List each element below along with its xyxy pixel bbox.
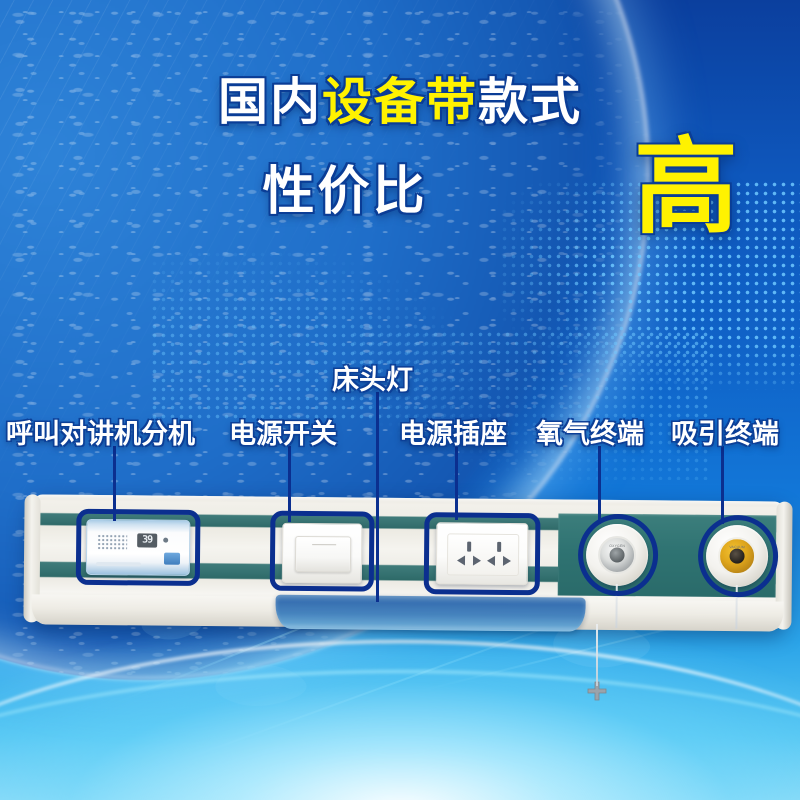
- terminal-port-icon: [610, 547, 625, 562]
- power-socket[interactable]: [436, 522, 529, 585]
- outlet-pin-vertical: [467, 542, 471, 552]
- intercom-display: 39: [137, 533, 157, 547]
- headline-subtitle: 性价比: [262, 163, 427, 221]
- outlet-pin-vertical: [497, 542, 501, 552]
- leader-line-oxygen: [598, 446, 601, 524]
- headline-part-2-highlight: 设备带: [322, 74, 478, 130]
- bed-lamp[interactable]: [275, 595, 585, 632]
- terminal-port-icon: [729, 549, 744, 564]
- callout-label-oxygen: 氧气终端: [536, 412, 644, 451]
- callout-label-bed-lamp: 床头灯: [332, 358, 413, 397]
- terminal-face: VACUUM: [718, 537, 756, 575]
- oxygen-terminal[interactable]: OXYGEN: [586, 524, 649, 587]
- outlet-pin-right: [503, 556, 511, 566]
- leader-line-intercom: [113, 446, 116, 521]
- headline-part-1: 国内: [218, 74, 322, 130]
- power-switch[interactable]: [282, 523, 363, 584]
- leader-line-suction: [721, 446, 724, 524]
- callout-label-intercom: 呼叫对讲机分机: [6, 412, 195, 451]
- outlet-right[interactable]: [484, 540, 514, 572]
- outlet-pin-right: [473, 556, 481, 566]
- speaker-grille-icon: [97, 534, 127, 550]
- long-pull-cord: [596, 624, 598, 686]
- rocker-switch[interactable]: [295, 536, 351, 573]
- callout-label-switch: 电源开关: [229, 412, 337, 451]
- headline-part-3: 款式: [478, 74, 582, 130]
- callout-label-socket: 电源插座: [399, 412, 507, 451]
- nurse-call-intercom[interactable]: 39: [86, 519, 191, 576]
- leader-line-bed-lamp: [376, 392, 379, 602]
- headline-emphasis-character: 高: [634, 136, 738, 240]
- bed-head-unit: 39: [27, 494, 788, 629]
- headline-line-1: 国内设备带款式: [0, 76, 800, 129]
- callout-label-suction: 吸引终端: [671, 412, 779, 451]
- leader-line-socket: [455, 446, 458, 520]
- halftone-dots-left: [150, 250, 470, 420]
- socket-face: [447, 533, 519, 576]
- terminal-face: OXYGEN: [598, 536, 636, 574]
- bottom-arc-secondary: [0, 670, 800, 800]
- intercom-label-strip: [96, 562, 141, 566]
- promo-banner: 国内设备带款式 性价比 高 呼叫对讲机分机 电源开关 床头灯 电源插座 氧气终端…: [0, 0, 800, 800]
- status-led-icon: [163, 538, 168, 543]
- outlet-left[interactable]: [454, 539, 484, 571]
- outlet-pin-left: [487, 556, 495, 566]
- outlet-pin-left: [457, 555, 465, 565]
- call-button[interactable]: [164, 553, 180, 565]
- suction-terminal[interactable]: VACUUM: [706, 525, 769, 588]
- leader-line-switch: [288, 446, 291, 522]
